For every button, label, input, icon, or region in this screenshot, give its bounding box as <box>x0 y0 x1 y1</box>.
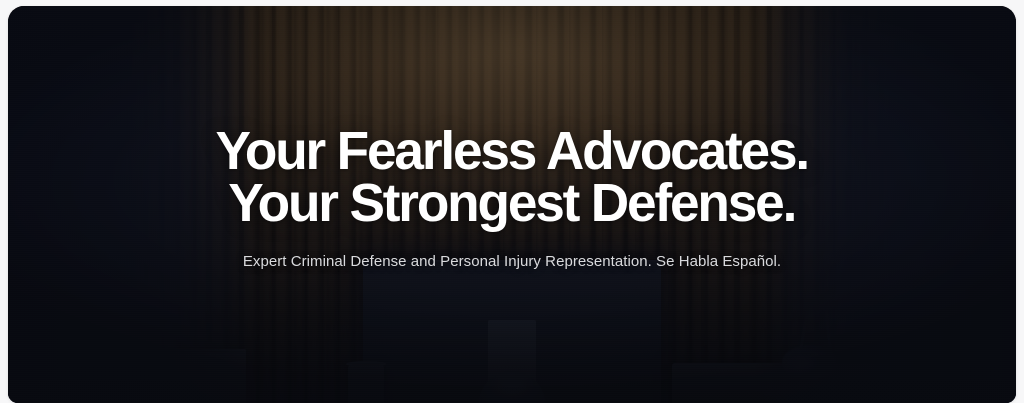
hero-headline-line-1: Your Fearless Advocates. <box>216 125 808 177</box>
hero-subheadline: Expert Criminal Defense and Personal Inj… <box>243 251 781 272</box>
hero-headline-line-2: Your Strongest Defense. <box>216 177 808 229</box>
hero-banner: Your Fearless Advocates. Your Strongest … <box>8 6 1016 403</box>
hero-content: Your Fearless Advocates. Your Strongest … <box>8 6 1016 403</box>
hero-headline: Your Fearless Advocates. Your Strongest … <box>216 125 808 229</box>
page-frame: Your Fearless Advocates. Your Strongest … <box>0 0 1024 403</box>
